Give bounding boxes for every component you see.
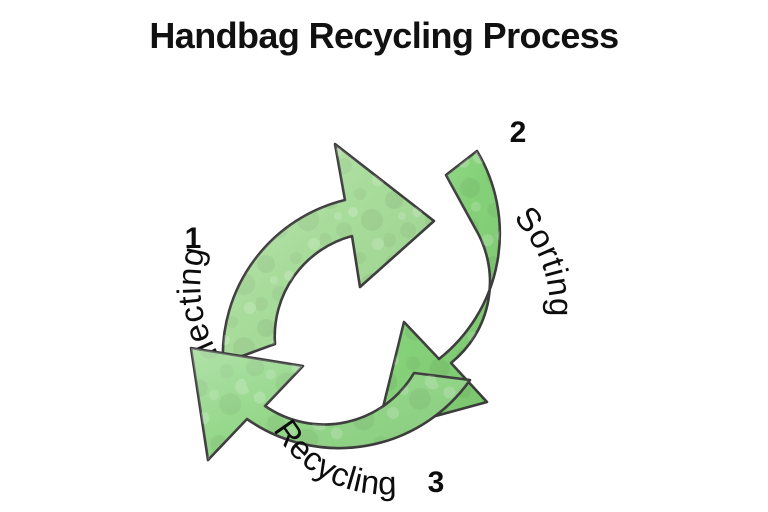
page-title: Handbag Recycling Process [0,14,768,57]
cycle-diagram: Collecting 1 Sorting 2 Recycling 3 [0,58,768,512]
diagram-canvas: Handbag Recycling Process [0,0,768,512]
cycle-number-2: 2 [510,116,527,149]
cycle-number-1: 1 [185,222,202,255]
cycle-number-3: 3 [428,466,445,499]
cycle-label-sorting: Sorting [508,199,580,317]
